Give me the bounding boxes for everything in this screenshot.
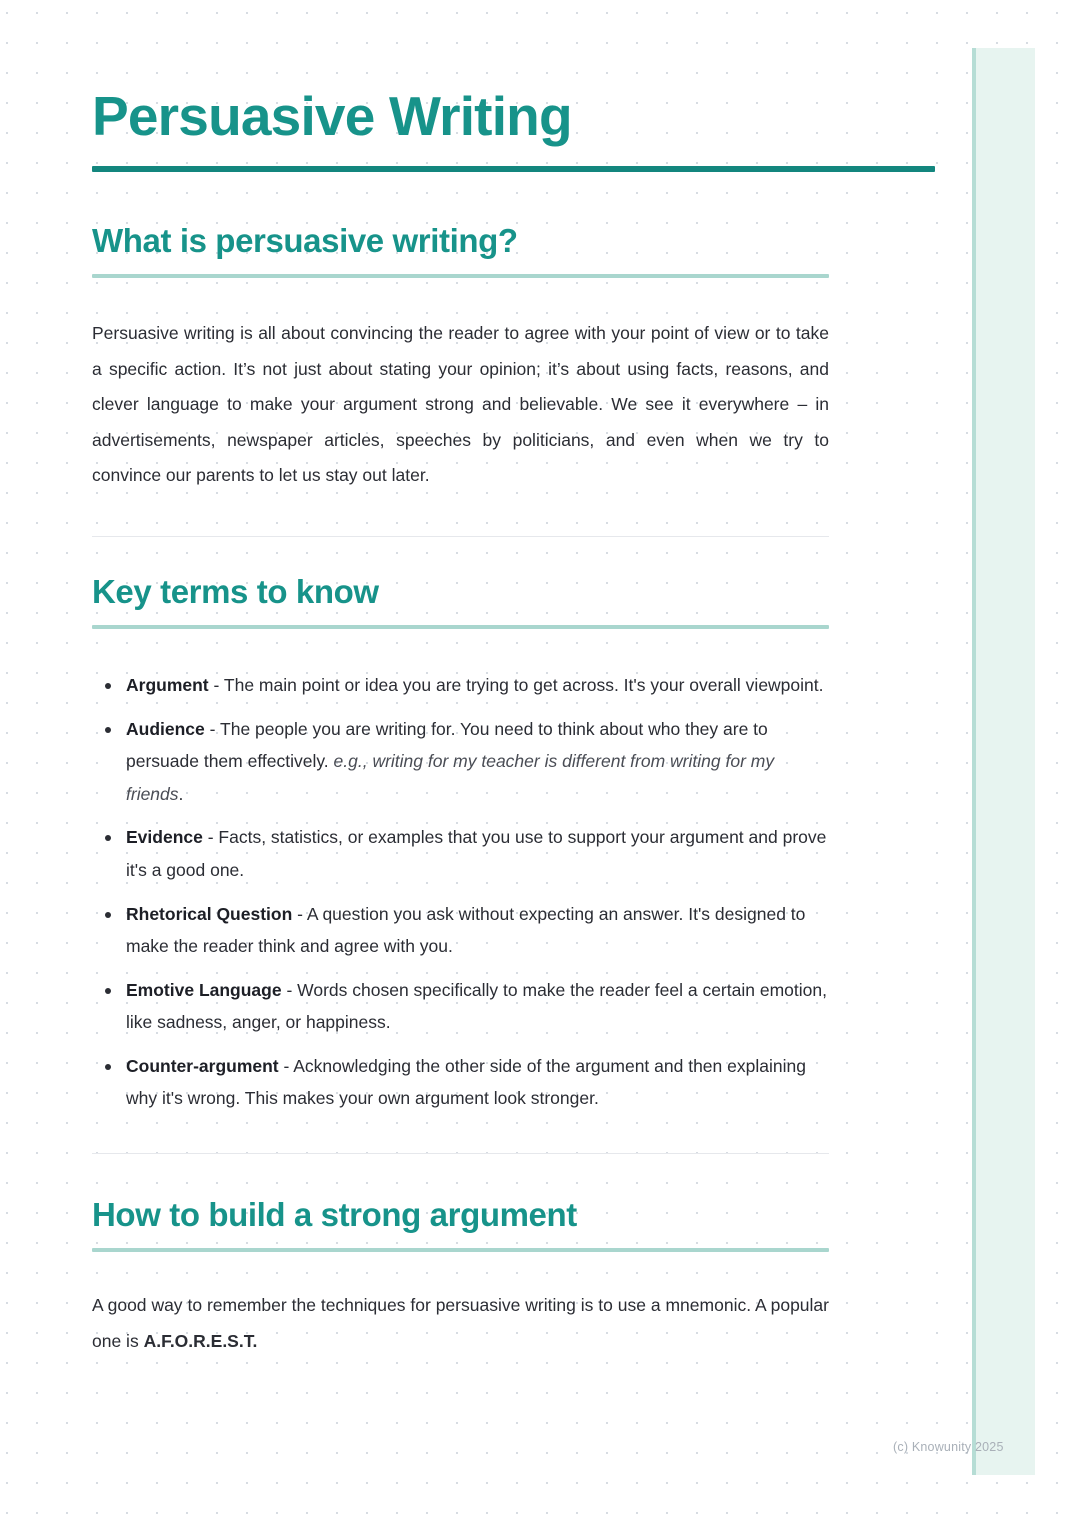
term-name: Emotive Language [126, 980, 282, 1000]
section-key-terms: Key terms to know Argument - The main po… [92, 573, 829, 1115]
list-item: Evidence - Facts, statistics, or example… [92, 821, 829, 886]
bullet-icon [105, 683, 111, 689]
section-heading: Key terms to know [92, 573, 829, 611]
right-margin-strip [972, 48, 1035, 1475]
list-item: Argument - The main point or idea you ar… [92, 669, 829, 702]
bullet-icon [105, 835, 111, 841]
mnemonic-label: A.F.O.R.E.S.T. [144, 1331, 258, 1351]
section-paragraph: Persuasive writing is all about convinci… [92, 316, 829, 494]
term-dash: - [209, 675, 224, 695]
list-item: Audience - The people you are writing fo… [92, 713, 829, 811]
document-content: Persuasive Writing What is persuasive wr… [92, 0, 829, 1359]
list-item: Emotive Language - Words chosen specific… [92, 974, 829, 1039]
term-dash: - [205, 719, 220, 739]
term-name: Rhetorical Question [126, 904, 292, 924]
page-title: Persuasive Writing [92, 0, 829, 144]
bullet-icon [105, 1064, 111, 1070]
term-dash: - [292, 904, 307, 924]
term-dash: - [282, 980, 298, 1000]
section-how-to-build-argument: How to build a strong argument A good wa… [92, 1196, 829, 1359]
bullet-icon [105, 988, 111, 994]
document-page: Persuasive Writing What is persuasive wr… [0, 0, 1080, 1528]
section-paragraph: A good way to remember the techniques fo… [92, 1288, 829, 1359]
term-definition: Facts, statistics, or examples that you … [126, 827, 826, 880]
list-item: Counter-argument - Acknowledging the oth… [92, 1050, 829, 1115]
bullet-icon [105, 727, 111, 733]
term-definition: The main point or idea you are trying to… [224, 675, 824, 695]
bullet-icon [105, 912, 111, 918]
term-dash: - [279, 1056, 294, 1076]
term-name: Evidence [126, 827, 203, 847]
term-name: Counter-argument [126, 1056, 279, 1076]
term-name: Argument [126, 675, 209, 695]
section-heading: What is persuasive writing? [92, 222, 829, 260]
term-tail: . [179, 784, 184, 804]
term-dash: - [203, 827, 219, 847]
key-terms-list: Argument - The main point or idea you ar… [92, 669, 829, 1115]
copyright-watermark: (c) Knowunity 2025 [893, 1440, 1004, 1454]
term-name: Audience [126, 719, 205, 739]
section-what-is-persuasive-writing: What is persuasive writing? Persuasive w… [92, 222, 829, 494]
section-heading: How to build a strong argument [92, 1196, 829, 1234]
list-item: Rhetorical Question - A question you ask… [92, 898, 829, 963]
